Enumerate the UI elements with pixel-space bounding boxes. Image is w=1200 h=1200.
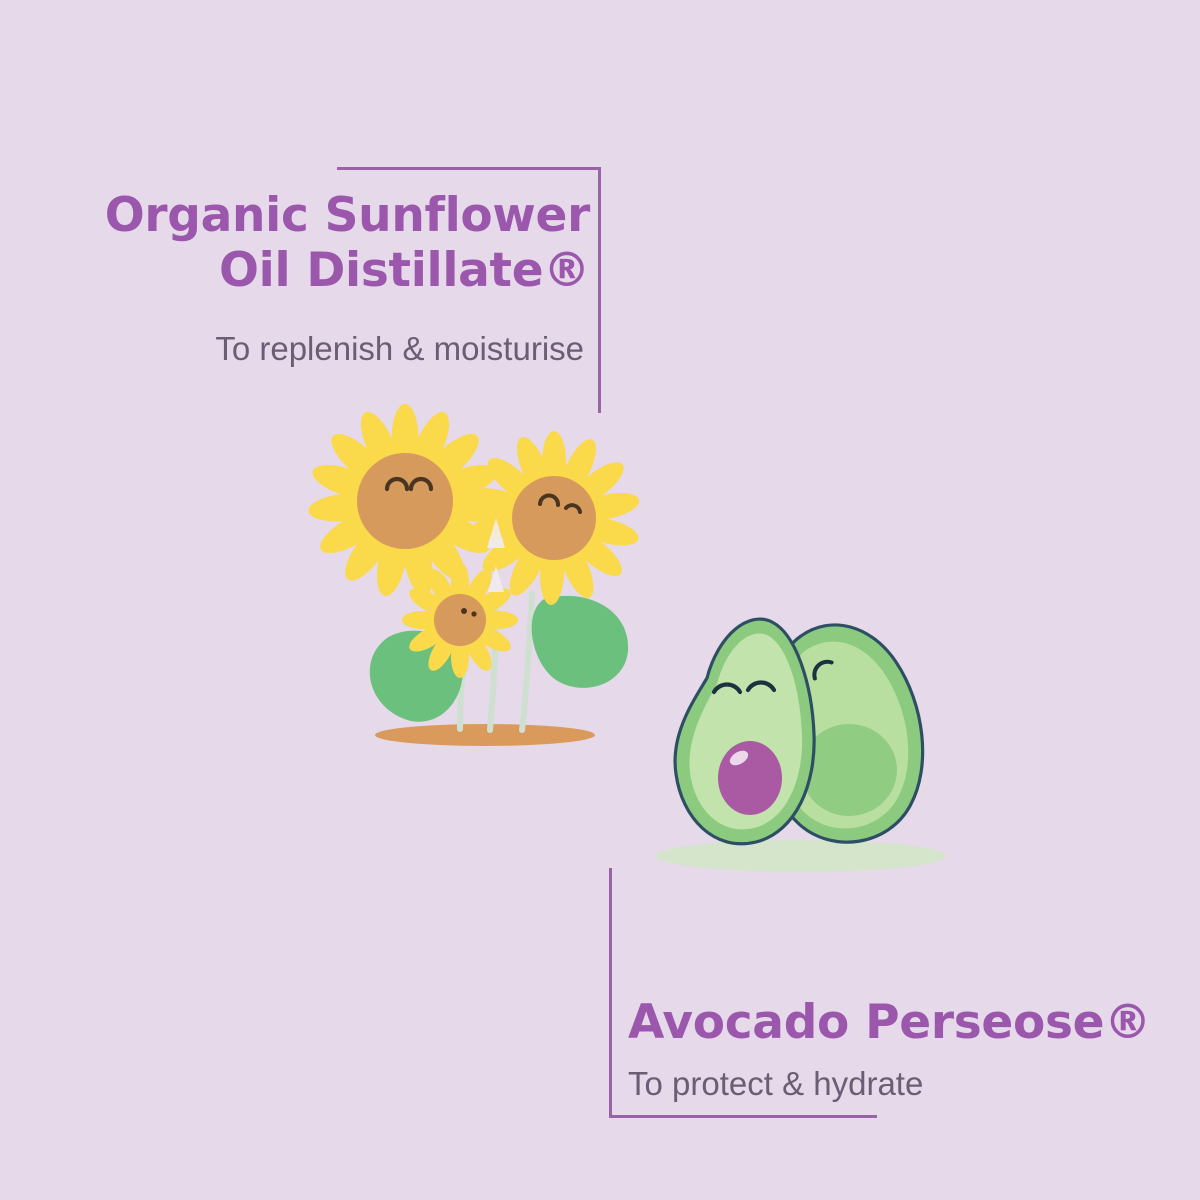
- sunflower-ingredient-block: Organic Sunflower Oil Distillate® To rep…: [40, 188, 590, 369]
- flower-center: [357, 453, 453, 549]
- sunflower-bracket-side-rule: [598, 167, 601, 413]
- avocado-shadow: [656, 840, 946, 872]
- avocado-left-pit: [718, 741, 782, 815]
- avocado-ingredient-block: Avocado Perseose® To protect & hydrate: [628, 995, 1168, 1104]
- flower-center: [434, 594, 486, 646]
- avocado-left: [675, 619, 814, 844]
- avocado-bracket-bottom-rule: [609, 1115, 877, 1118]
- avocado-ingredient-title: Avocado Perseose®: [628, 995, 1168, 1050]
- sunflower-bracket-top-rule: [337, 167, 601, 170]
- avocado-ingredient-benefit: To protect & hydrate: [628, 1064, 1168, 1104]
- ground-ellipse: [375, 724, 595, 746]
- sunflower-ingredient-title: Organic Sunflower Oil Distillate®: [40, 188, 590, 299]
- avocados-illustration: [596, 588, 996, 888]
- avocado-bracket-side-rule: [609, 868, 612, 1118]
- sunflower-ingredient-benefit: To replenish & moisturise: [40, 329, 590, 369]
- flower-center: [512, 476, 596, 560]
- ingredient-infographic: Organic Sunflower Oil Distillate® To rep…: [0, 0, 1200, 1200]
